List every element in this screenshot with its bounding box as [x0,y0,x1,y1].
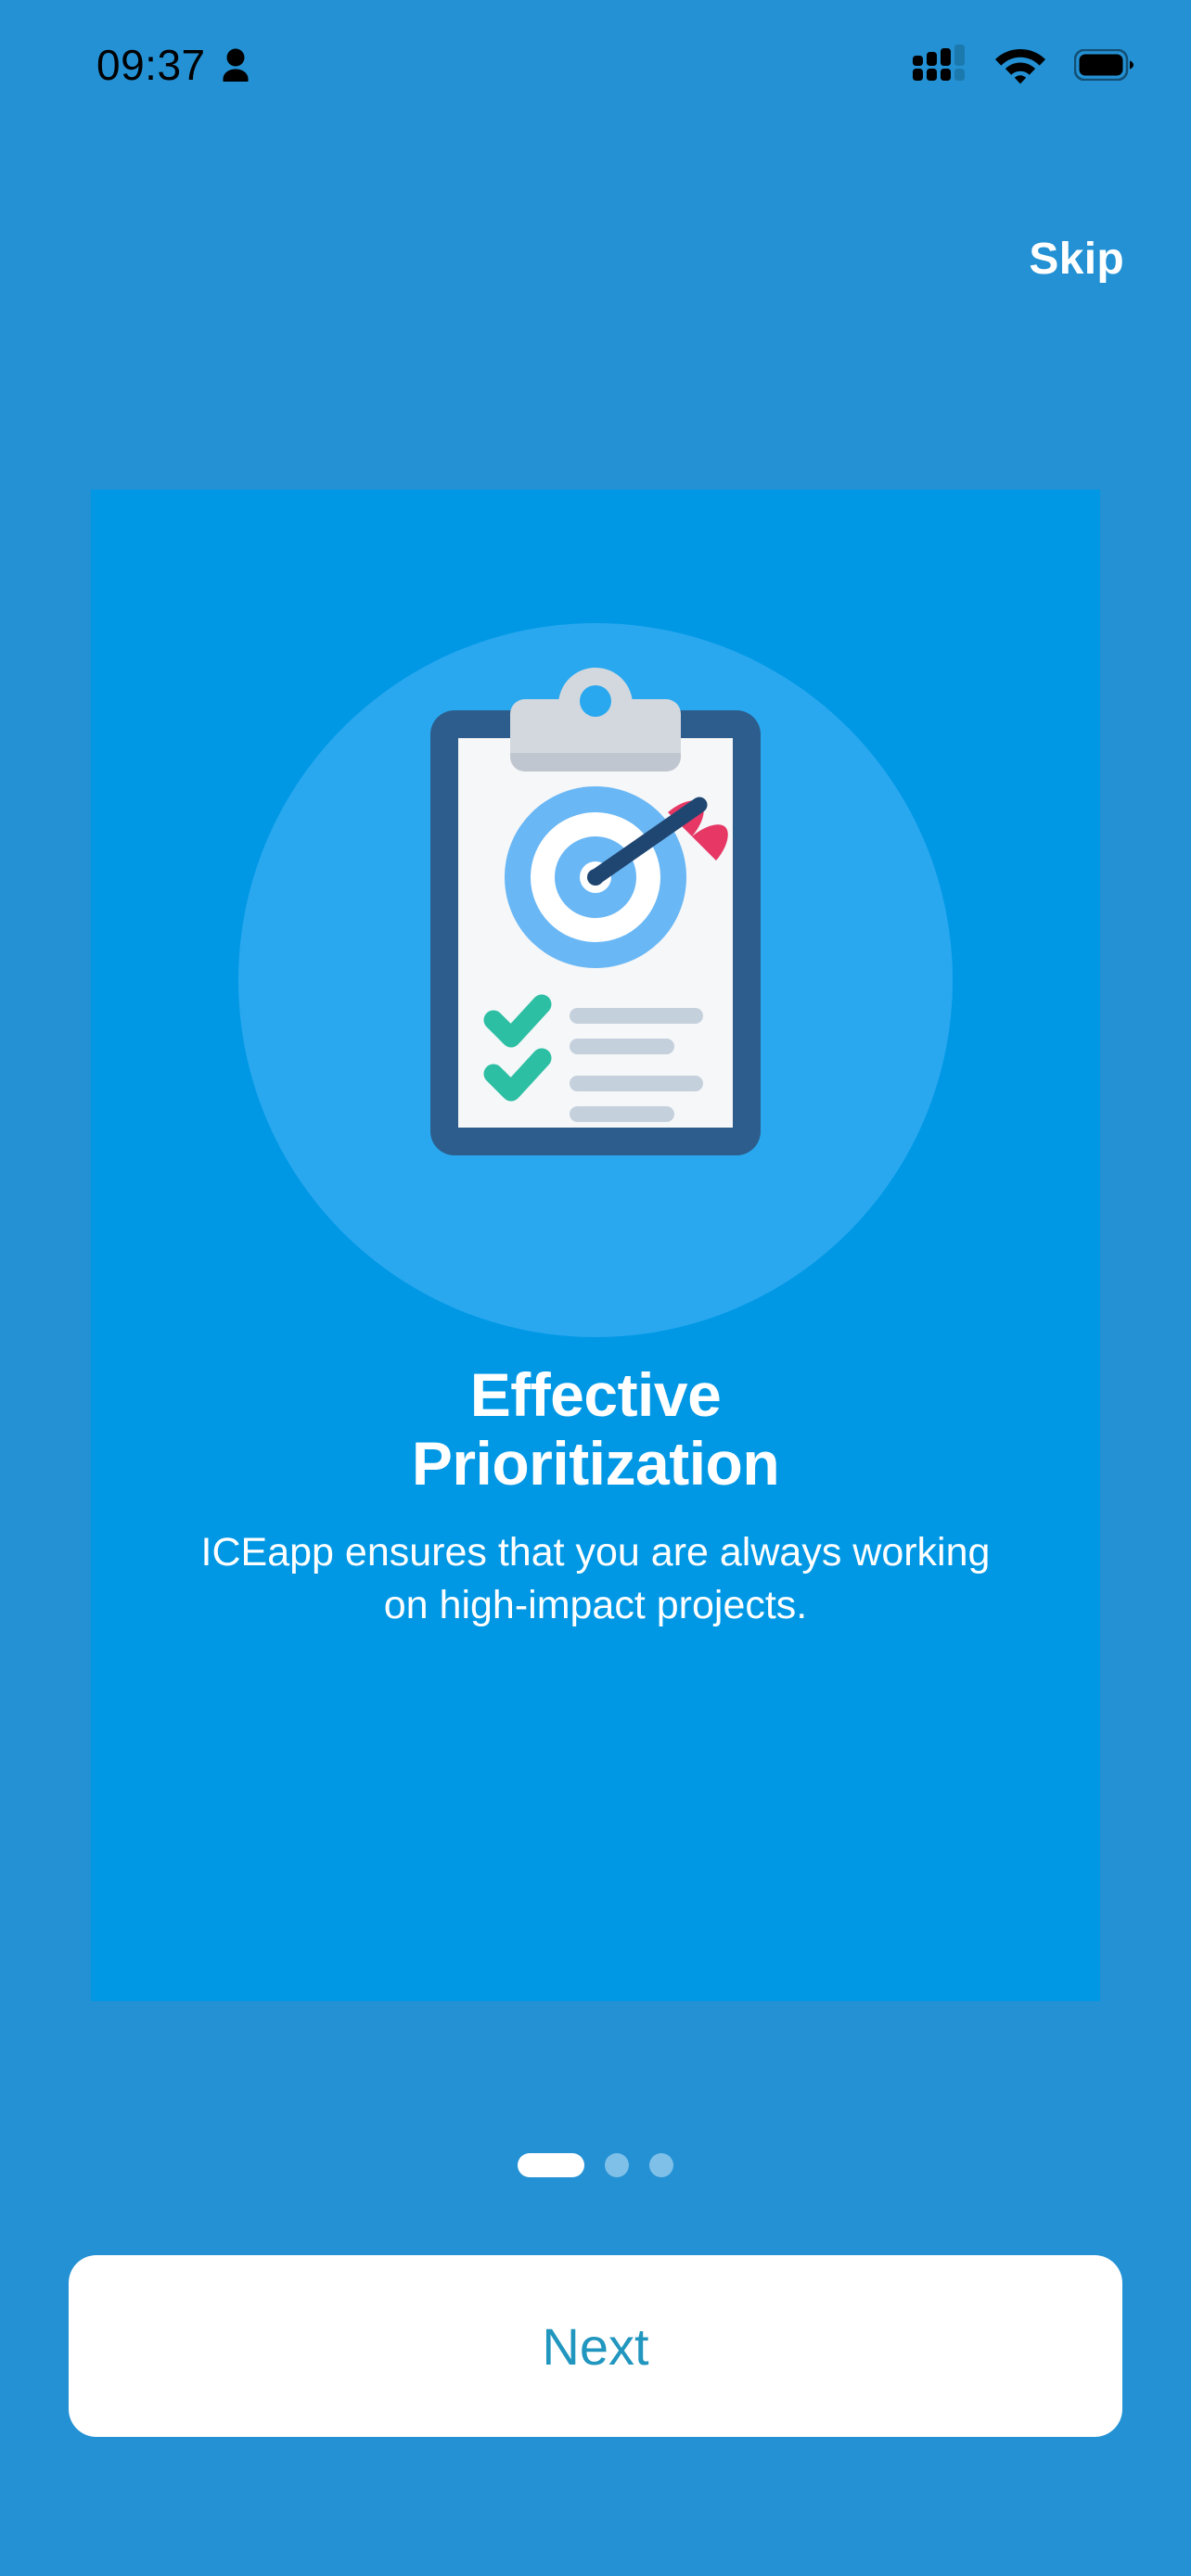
status-bar: 09:37 [0,0,1191,130]
page-description: ICEapp ensures that you are always worki… [187,1526,1004,1632]
status-bar-right [913,45,1133,85]
illustration-area [91,490,1100,1324]
onboarding-screen: 09:37 [0,0,1191,2576]
pagination-dots[interactable] [0,2153,1191,2177]
clipboard-target-dart-illustration [373,657,818,1185]
card-text-block: Effective Prioritization ICEapp ensures … [91,1361,1100,1631]
pagination-dot-2[interactable] [605,2153,629,2177]
pagination-dot-1[interactable] [518,2153,584,2177]
status-bar-left: 09:37 [96,44,252,86]
next-button[interactable]: Next [69,2255,1122,2437]
onboarding-card: Effective Prioritization ICEapp ensures … [91,490,1100,2001]
wifi-icon [994,45,1046,84]
status-bar-clock: 09:37 [96,44,206,86]
pagination-dot-3[interactable] [649,2153,673,2177]
person-icon [219,46,252,83]
skip-button[interactable]: Skip [1019,225,1133,294]
battery-icon [1074,49,1133,81]
page-title: Effective Prioritization [308,1361,883,1498]
cellular-signal-icon [913,45,967,85]
